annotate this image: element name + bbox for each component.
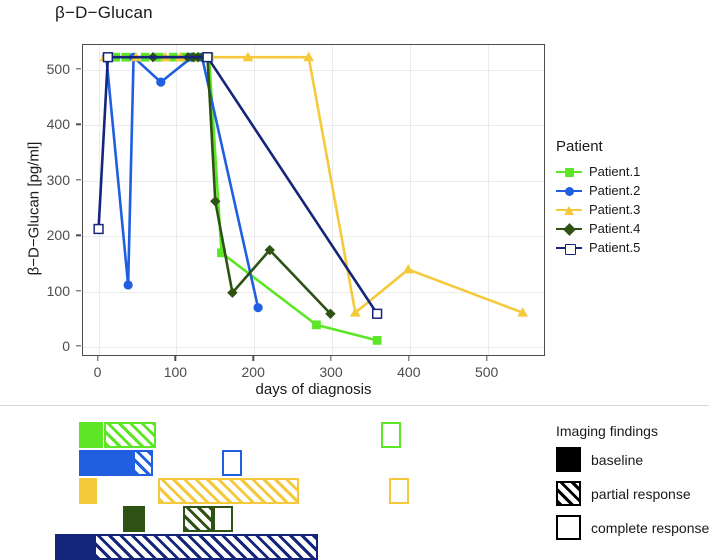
square-icon — [556, 165, 582, 179]
series-patient-3 — [99, 52, 528, 317]
x-axis-title: days of diagnosis — [82, 381, 545, 398]
imaging-legend-label: partial response — [591, 486, 691, 502]
x-tick-label: 400 — [397, 364, 420, 380]
x-tick-label: 200 — [242, 364, 265, 380]
y-tick-label: 500 — [47, 61, 70, 77]
figure-root: β−D−Glucan 0100200300400500 010020030040… — [0, 0, 709, 557]
circle-icon — [556, 184, 582, 198]
data-point-marker — [104, 53, 113, 62]
series-patient-2 — [102, 53, 263, 313]
data-point-marker — [94, 225, 103, 234]
series-patient-5 — [94, 53, 381, 318]
swimmer-segment-partial[interactable] — [133, 450, 153, 476]
y-tick-label: 200 — [47, 227, 70, 243]
legend-item-patient-2[interactable]: Patient.2 — [556, 181, 706, 200]
data-point-marker — [312, 320, 321, 329]
series-line — [106, 57, 258, 307]
y-tick-label: 0 — [62, 338, 70, 354]
imaging-legend-label: complete response — [591, 520, 709, 536]
legend-item-label: Patient.4 — [589, 221, 640, 236]
legend-item-patient-5[interactable]: Patient.5 — [556, 238, 706, 257]
x-tick-label: 0 — [94, 364, 102, 380]
swimmer-segment-baseline[interactable] — [79, 450, 133, 476]
swimmer-segment-complete[interactable] — [389, 478, 409, 504]
y-tick-mark — [76, 234, 81, 235]
diamond-icon — [556, 222, 582, 236]
x-tick-mark — [408, 356, 409, 361]
y-tick-label: 100 — [47, 283, 70, 299]
x-tick-mark — [330, 356, 331, 361]
y-tick-mark — [76, 68, 81, 69]
triangle-icon — [556, 203, 582, 217]
y-tick-mark — [76, 179, 81, 180]
data-point-marker — [124, 280, 133, 289]
legend-item-patient-3[interactable]: Patient.3 — [556, 200, 706, 219]
solid-swatch-icon — [556, 447, 581, 472]
patient-legend: Patient Patient.1Patient.2Patient.3Patie… — [556, 138, 706, 257]
swimmer-row-patient-1 — [0, 422, 545, 448]
imaging-legend-label: baseline — [591, 452, 643, 468]
imaging-legend-items: baselinepartial responsecomplete respons… — [556, 447, 709, 540]
swimmer-row-patient-5 — [0, 534, 545, 560]
data-point-marker — [373, 336, 382, 345]
swimmer-segment-partial[interactable] — [158, 478, 299, 504]
section-divider — [0, 405, 709, 406]
series-layer — [83, 45, 546, 357]
y-tick-mark — [76, 124, 81, 125]
data-point-marker — [373, 309, 382, 318]
legend-item-label: Patient.2 — [589, 183, 640, 198]
series-patient-4 — [148, 52, 336, 319]
swimmer-segment-complete[interactable] — [222, 450, 242, 476]
x-tick-mark — [97, 356, 98, 361]
y-axis-title: β−D−Glucan [pg/ml] — [26, 79, 43, 339]
swimmer-segment-partial[interactable] — [183, 506, 213, 532]
y-tick-label: 400 — [47, 116, 70, 132]
swimmer-segment-baseline[interactable] — [79, 478, 97, 504]
y-tick-mark — [76, 345, 81, 346]
swimmer-segment-baseline[interactable] — [123, 506, 145, 532]
x-axis-ticks: 0100200300400500 — [82, 356, 545, 382]
imaging-legend-title: Imaging findings — [556, 423, 709, 439]
swimmer-row-patient-4 — [0, 506, 545, 532]
swimmer-segment-complete[interactable] — [213, 506, 233, 532]
legend-item-patient-4[interactable]: Patient.4 — [556, 219, 706, 238]
series-line — [116, 57, 377, 340]
hatched-swatch-icon — [556, 481, 581, 506]
x-tick-label: 500 — [475, 364, 498, 380]
series-line — [105, 57, 523, 312]
open-swatch-icon — [556, 515, 581, 540]
data-point-marker — [156, 78, 165, 87]
series-line — [99, 57, 378, 314]
swimmer-plot — [0, 408, 545, 557]
legend-item-label: Patient.1 — [589, 164, 640, 179]
patient-legend-title: Patient — [556, 138, 706, 155]
swimmer-segment-partial[interactable] — [104, 422, 156, 448]
swimmer-row-patient-2 — [0, 450, 545, 476]
swimmer-segment-complete[interactable] — [381, 422, 401, 448]
y-tick-label: 300 — [47, 172, 70, 188]
legend-item-patient-1[interactable]: Patient.1 — [556, 162, 706, 181]
page-title: β−D−Glucan — [55, 3, 153, 23]
x-tick-mark — [486, 356, 487, 361]
series-line — [153, 57, 330, 314]
imaging-legend: Imaging findings baselinepartial respons… — [556, 423, 709, 549]
x-tick-mark — [175, 356, 176, 361]
open-square-icon — [556, 241, 582, 255]
data-point-marker — [253, 303, 262, 312]
x-tick-label: 100 — [164, 364, 187, 380]
data-point-marker — [403, 264, 414, 273]
plot-panel — [82, 44, 545, 356]
legend-item-label: Patient.3 — [589, 202, 640, 217]
imaging-legend-item[interactable]: baseline — [556, 447, 709, 472]
swimmer-row-patient-3 — [0, 478, 545, 504]
swimmer-segment-baseline[interactable] — [79, 422, 103, 448]
legend-item-label: Patient.5 — [589, 240, 640, 255]
series-patient-1 — [111, 53, 381, 345]
data-point-marker — [203, 53, 212, 62]
swimmer-segment-baseline[interactable] — [55, 534, 94, 560]
patient-legend-items: Patient.1Patient.2Patient.3Patient.4Pati… — [556, 162, 706, 257]
imaging-legend-item[interactable]: complete response — [556, 515, 709, 540]
x-tick-mark — [252, 356, 253, 361]
swimmer-segment-partial[interactable] — [94, 534, 318, 560]
x-tick-label: 300 — [319, 364, 342, 380]
y-tick-mark — [76, 290, 81, 291]
imaging-legend-item[interactable]: partial response — [556, 481, 709, 506]
